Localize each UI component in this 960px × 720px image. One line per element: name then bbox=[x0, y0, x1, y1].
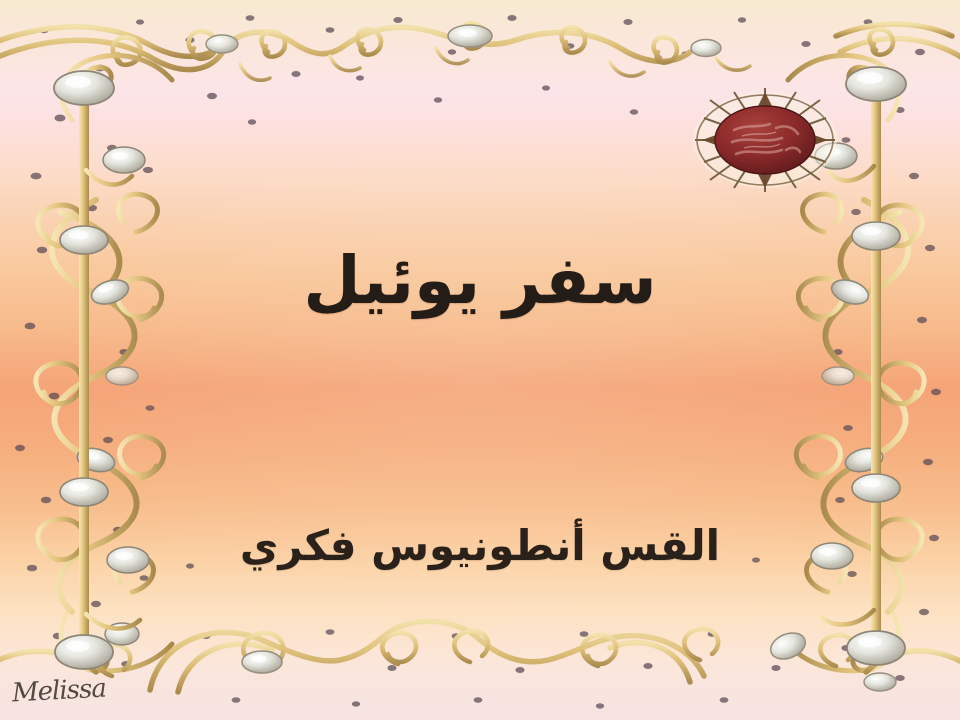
cover-title-container: سفر يوئيل bbox=[0, 245, 960, 318]
book-cover-page: سفر يوئيل القس أنطونيوس فكري Melissa bbox=[0, 0, 960, 720]
cover-author-container: القس أنطونيوس فكري bbox=[0, 522, 960, 570]
watermark-signature: Melissa bbox=[11, 674, 106, 709]
cover-author: القس أنطونيوس فكري bbox=[240, 522, 720, 570]
cover-title: سفر يوئيل bbox=[303, 245, 656, 318]
seal-emblem bbox=[690, 78, 840, 203]
